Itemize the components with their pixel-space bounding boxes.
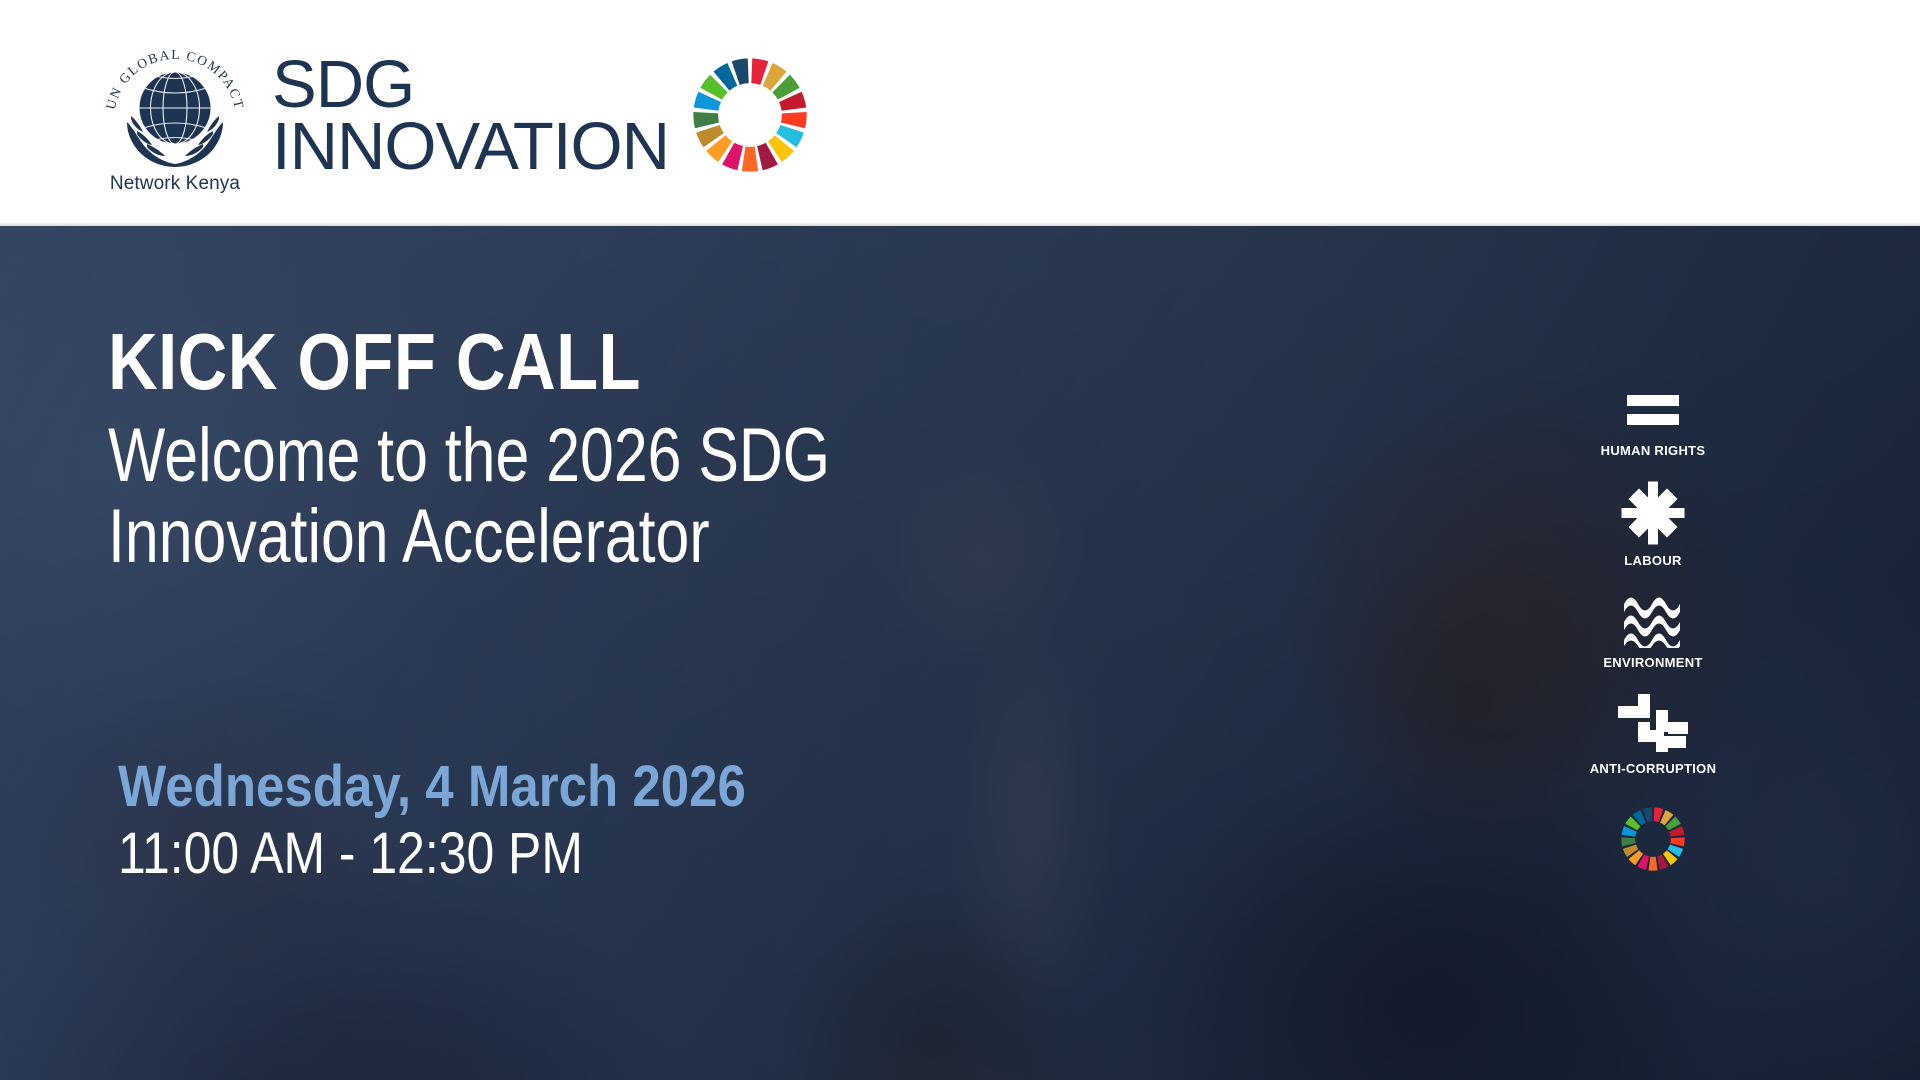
sdg-color-wheel-icon <box>1620 806 1686 872</box>
wordmark-line-sdg: SDG <box>272 54 669 116</box>
network-label: Network Kenya <box>100 173 250 195</box>
brand-lockup: UN GLOBAL COMPACT <box>100 36 809 206</box>
sdg-color-wheel-icon <box>691 56 809 179</box>
presentation-slide: UN GLOBAL COMPACT <box>0 0 1920 1080</box>
event-time: 11:00 AM - 12:30 PM <box>118 823 732 886</box>
wordmark-text: SDG INNOVATION <box>272 54 669 179</box>
event-schedule: Wednesday, 4 March 2026 11:00 AM - 12:30… <box>118 756 832 885</box>
principle-label: LABOUR <box>1624 553 1681 568</box>
sdg-wheel-graphic <box>691 56 809 174</box>
header-band: UN GLOBAL COMPACT <box>0 0 1920 226</box>
sdg-wheel-segment <box>1648 857 1657 871</box>
sdg-wheel-segment <box>781 112 807 128</box>
principle-human-rights: HUMAN RIGHTS <box>1601 386 1706 458</box>
event-date: Wednesday, 4 March 2026 <box>118 756 746 819</box>
sdg-wheel-segment <box>1670 837 1684 846</box>
sdg-wheel-segment <box>1621 837 1635 846</box>
sdg-wheel-segment <box>693 112 719 128</box>
sdg-innovation-wordmark: SDG INNOVATION <box>272 54 809 179</box>
wordmark-line-innovation: INNOVATION <box>272 116 669 178</box>
hero-copy: KICK OFF CALL Welcome to the 2026 SDG In… <box>108 322 1011 577</box>
converging-arrows-icon <box>1620 480 1686 546</box>
hero-section: KICK OFF CALL Welcome to the 2026 SDG In… <box>0 226 1920 1080</box>
sdg-wheel-segment <box>742 147 758 172</box>
un-global-compact-emblem: UN GLOBAL COMPACT <box>100 36 250 206</box>
kicker-title: KICK OFF CALL <box>108 322 884 402</box>
headline-line-1: Welcome to the 2026 SDG <box>108 416 830 497</box>
principle-label: ENVIRONMENT <box>1603 655 1702 670</box>
headline-line-2: Innovation Accelerator <box>108 497 830 578</box>
principle-anti-corruption: ANTI-CORRUPTION <box>1590 692 1717 776</box>
ungc-emblem-graphic: UN GLOBAL COMPACT <box>100 36 250 176</box>
equals-icon <box>1623 386 1683 436</box>
principle-label: ANTI-CORRUPTION <box>1590 761 1717 776</box>
hero-headline: Welcome to the 2026 SDG Innovation Accel… <box>108 416 830 577</box>
waves-icon <box>1622 590 1684 648</box>
ten-principles-rail: HUMAN RIGHTS LABOUR <box>1558 386 1748 894</box>
broken-chain-icon <box>1616 692 1690 754</box>
principle-environment: ENVIRONMENT <box>1603 590 1702 670</box>
principle-label: HUMAN RIGHTS <box>1601 443 1706 458</box>
sdg-wheel-rail-item <box>1620 806 1686 872</box>
principle-labour: LABOUR <box>1620 480 1686 568</box>
